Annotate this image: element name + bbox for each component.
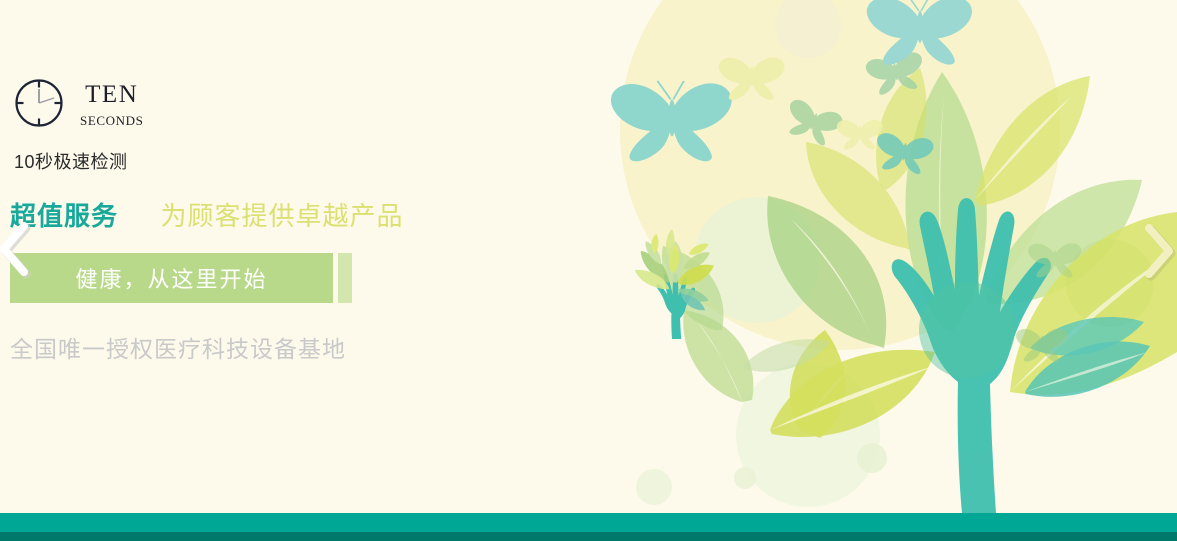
headline-secondary: 为顾客提供卓越产品	[160, 201, 403, 231]
badge-title: TEN	[85, 82, 138, 107]
chevron-right-icon[interactable]	[1139, 220, 1177, 282]
chevron-left-icon[interactable]	[0, 220, 36, 282]
bubble-tiny	[734, 467, 756, 489]
bottom-band-light	[0, 513, 1177, 532]
cta-group: 健康，从这里开始	[10, 253, 352, 303]
bubble-small	[857, 443, 887, 473]
badge-caption: 10秒极速检测	[14, 148, 128, 174]
speed-badge: TEN SECONDS	[14, 78, 143, 128]
cta-accent-chip	[338, 253, 352, 303]
footer-tagline: 全国唯一授权医疗科技设备基地	[10, 330, 346, 364]
bubble-left	[636, 469, 672, 505]
promo-banner: TEN SECONDS 10秒极速检测 超值服务 为顾客提供卓越产品 健康，从这…	[0, 0, 1177, 541]
clock-icon	[14, 78, 64, 128]
bottom-band-dark	[0, 532, 1177, 541]
badge-subtitle: SECONDS	[80, 114, 143, 127]
cta-button[interactable]: 健康，从这里开始	[10, 253, 333, 303]
headline: 超值服务 为顾客提供卓越产品	[10, 196, 404, 233]
